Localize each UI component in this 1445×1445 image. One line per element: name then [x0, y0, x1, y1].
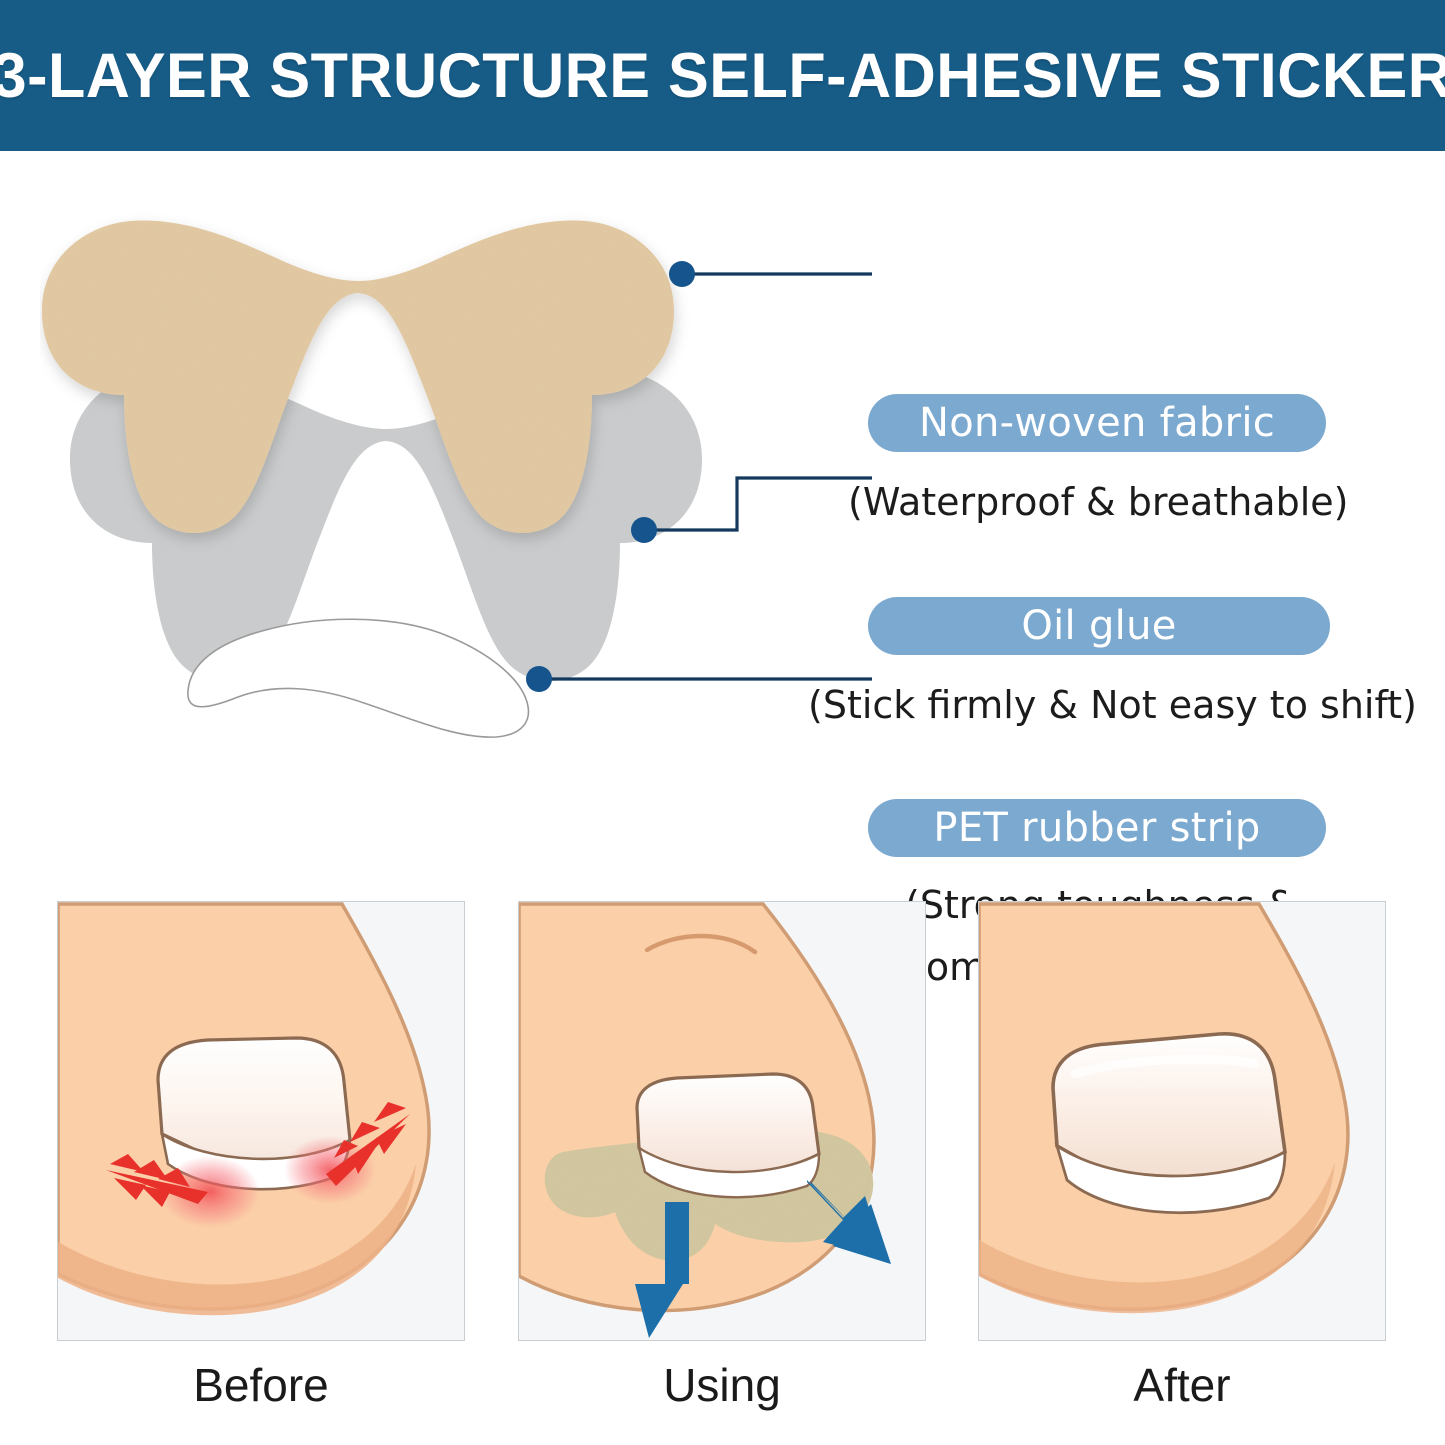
before-illustration: [58, 902, 464, 1340]
panel-caption-before: Before: [57, 1358, 465, 1412]
product-infographic: 3-LAYER STRUCTURE SELF-ADHESIVE STICKER: [0, 0, 1445, 1445]
panel-caption-after: After: [978, 1358, 1386, 1412]
comparison-panel-using: [518, 901, 926, 1341]
using-illustration: [519, 902, 925, 1340]
header-banner: 3-LAYER STRUCTURE SELF-ADHESIVE STICKER: [0, 0, 1445, 151]
sticker-layers-illustration: [40, 191, 760, 751]
after-illustration: [979, 902, 1385, 1340]
callout-pill-oil-glue[interactable]: Oil glue: [868, 597, 1330, 655]
nail-plate: [637, 1074, 819, 1174]
inflammation-right: [284, 1136, 376, 1204]
page-title: 3-LAYER STRUCTURE SELF-ADHESIVE STICKER: [22, 0, 1424, 151]
callout-pill-pet-rubber-strip[interactable]: PET rubber strip: [868, 799, 1326, 857]
comparison-panel-after: [978, 901, 1386, 1341]
comparison-panel-before: [57, 901, 465, 1341]
callout-sub-oil-glue: (Stick firmly & Not easy to shift): [808, 674, 1417, 736]
panel-caption-using: Using: [518, 1358, 926, 1412]
layer-diagram: Non-woven fabric (Waterproof & breathabl…: [0, 151, 1445, 871]
callout-sub-non-woven-fabric: (Waterproof & breathable): [848, 471, 1348, 533]
non-woven-fabric-layer: [42, 221, 674, 534]
callout-pill-non-woven-fabric[interactable]: Non-woven fabric: [868, 394, 1326, 452]
